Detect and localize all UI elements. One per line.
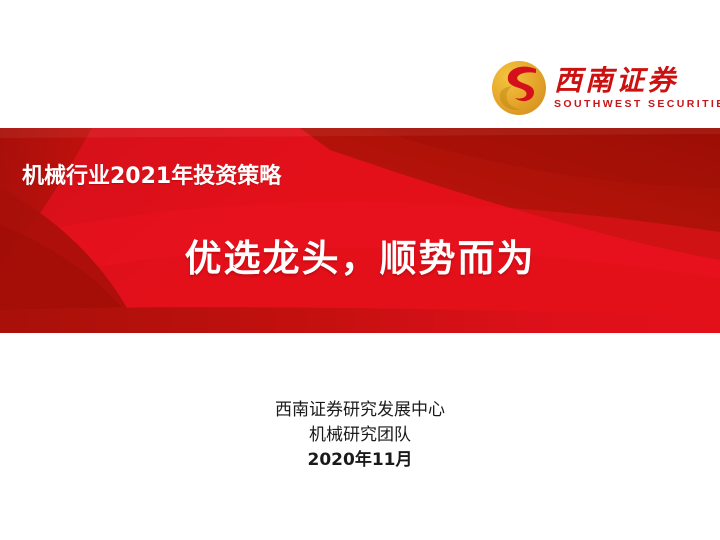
title-banner: 机械行业2021年投资策略 优选龙头，顺势而为 [0,128,720,333]
logo-chinese-name: 西南证券 [554,66,720,95]
logo-english-name: SOUTHWEST SECURITIES [554,98,720,110]
banner-subtitle: 机械行业2021年投资策略 [22,158,281,190]
presentation-title-slide: 西南证券 SOUTHWEST SECURITIES [0,0,720,540]
footer-credits: 西南证券研究发展中心 机械研究团队 2020年11月 [0,398,720,473]
southwest-securities-emblem-icon [492,61,546,115]
footer-line-institute: 西南证券研究发展中心 [0,398,720,423]
logo-wordmark: 西南证券 SOUTHWEST SECURITIES [554,66,720,109]
company-logo: 西南证券 SOUTHWEST SECURITIES [492,52,692,124]
banner-main-title: 优选龙头，顺势而为 [0,228,720,282]
footer-line-date: 2020年11月 [0,448,720,473]
footer-line-team: 机械研究团队 [0,423,720,448]
